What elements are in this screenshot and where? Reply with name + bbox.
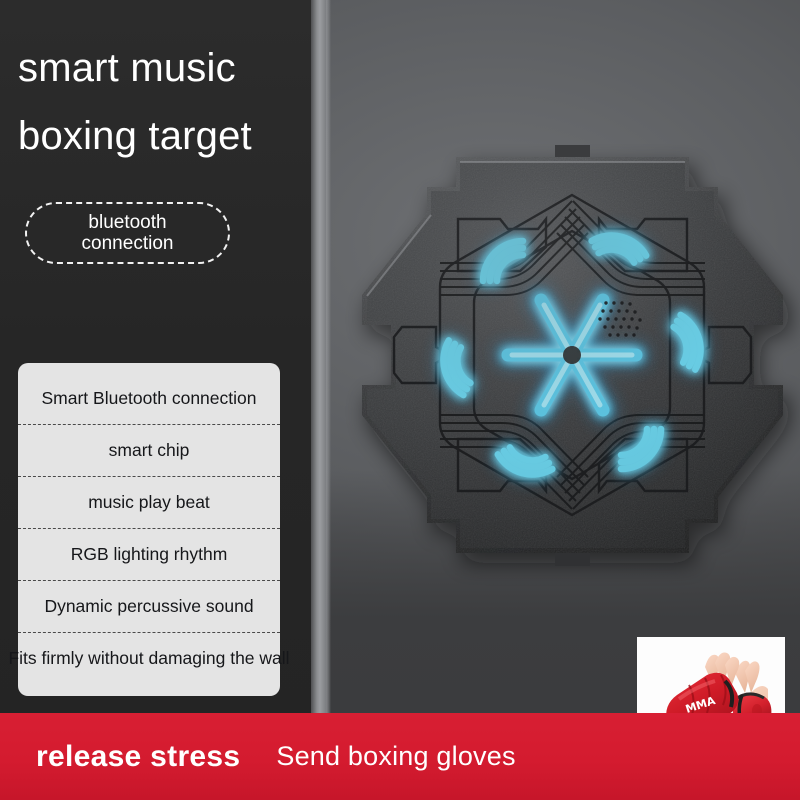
bluetooth-badge-line-1: bluetooth <box>82 212 174 233</box>
feature-item: RGB lighting rhythm <box>18 528 280 580</box>
page-title: smart music boxing target <box>18 48 348 156</box>
feature-label: Smart Bluetooth connection <box>42 388 257 409</box>
device-face <box>340 135 800 575</box>
feature-label: Dynamic percussive sound <box>44 596 253 617</box>
bottom-mount-tab <box>555 553 590 566</box>
feature-label: RGB lighting rhythm <box>71 544 228 565</box>
promo-banner: release stress Send boxing gloves <box>0 713 800 800</box>
feature-label: smart chip <box>109 440 190 461</box>
feature-item: Dynamic percussive sound <box>18 580 280 632</box>
feature-label: Fits firmly without damaging the wall <box>8 648 289 669</box>
feature-list-card: Smart Bluetooth connection smart chip mu… <box>18 363 280 696</box>
product-poster: smart music boxing target bluetooth conn… <box>0 0 800 800</box>
feature-item: Fits firmly without damaging the wall <box>18 632 280 684</box>
bluetooth-badge-line-2: connection <box>82 233 174 254</box>
feature-item: Smart Bluetooth connection <box>18 373 280 424</box>
promo-primary-text: release stress <box>36 740 240 774</box>
bluetooth-badge: bluetooth connection <box>25 202 230 264</box>
top-mount-tab <box>555 145 590 157</box>
headline-line-2: boxing target <box>18 116 348 156</box>
promo-secondary-text: Send boxing gloves <box>276 741 515 772</box>
feature-label: music play beat <box>88 492 210 513</box>
headline-line-1: smart music <box>18 46 236 90</box>
feature-item: music play beat <box>18 476 280 528</box>
boxing-target-device <box>340 135 800 575</box>
feature-item: smart chip <box>18 424 280 476</box>
